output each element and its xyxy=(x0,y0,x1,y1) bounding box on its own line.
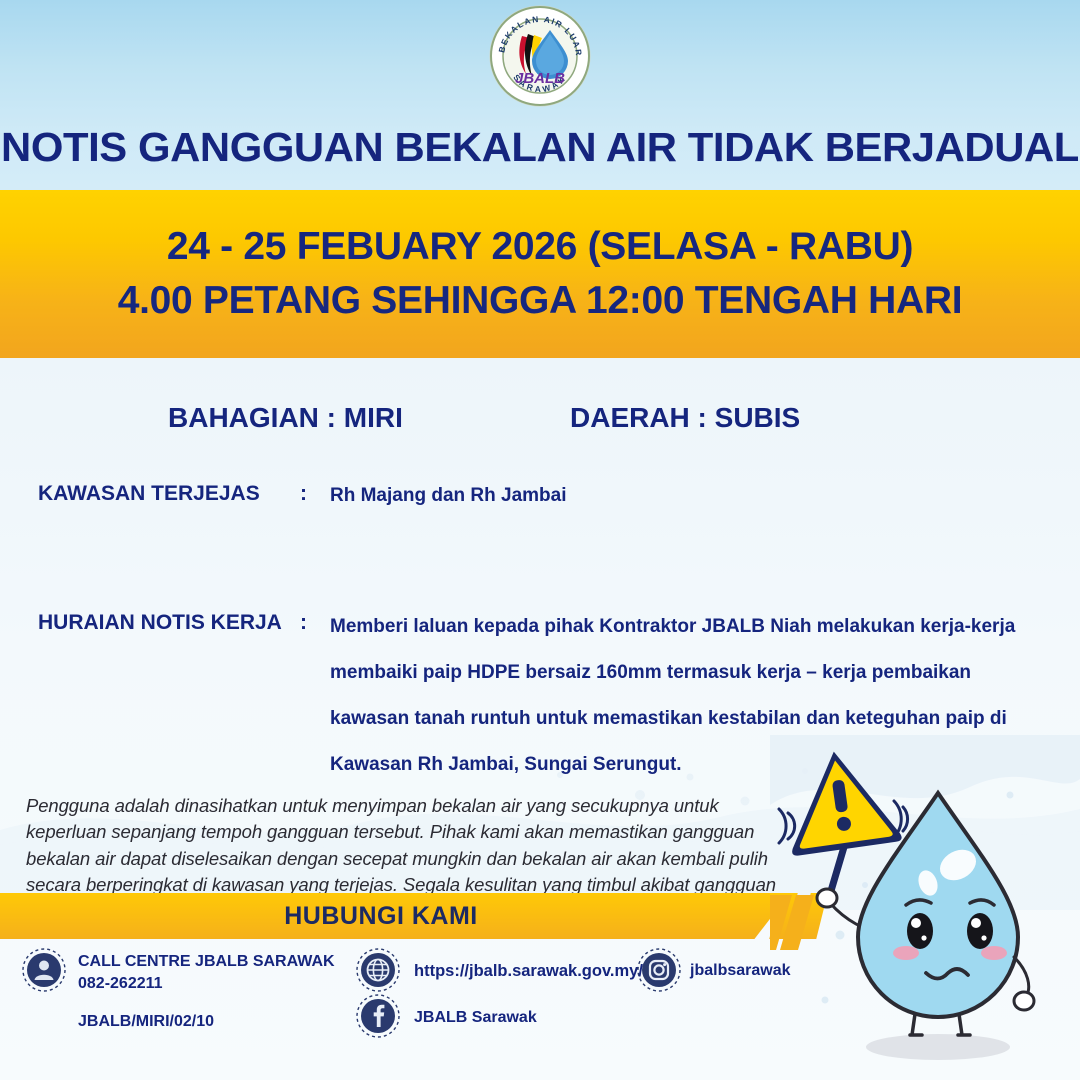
contact-banner: HUBUNGI KAMI xyxy=(0,893,790,939)
globe-icon xyxy=(356,948,400,992)
kawasan-terjejas-value: Rh Majang dan Rh Jambai xyxy=(330,485,566,507)
svg-text:JBALB: JBALB xyxy=(515,70,565,87)
jbalb-logo: JABATAN BEKALAN AIR LUAR BANDAR SARAWAK … xyxy=(488,4,592,108)
daerah-text: DAERAH : SUBIS xyxy=(570,402,800,434)
call-centre-number[interactable]: 082-262211 xyxy=(78,975,163,993)
contact-banner-title: HUBUNGI KAMI xyxy=(284,902,478,931)
huraian-notis-kerja-colon: : xyxy=(300,611,307,635)
website-url[interactable]: https://jbalb.sarawak.gov.my/ xyxy=(414,962,643,981)
water-droplet-mascot xyxy=(770,735,1080,1080)
water-disruption-notice-poster: JABATAN BEKALAN AIR LUAR BANDAR SARAWAK … xyxy=(0,0,1080,1080)
disruption-date: 24 - 25 FEBUARY 2026 (SELASA - RABU) xyxy=(167,220,913,274)
page-title: NOTIS GANGGUAN BEKALAN AIR TIDAK BERJADU… xyxy=(0,124,1080,171)
kawasan-terjejas-label: KAWASAN TERJEJAS xyxy=(38,482,260,506)
disruption-time: 4.00 PETANG SEHINGGA 12:00 TENGAH HARI xyxy=(118,274,963,328)
huraian-notis-kerja-label: HURAIAN NOTIS KERJA xyxy=(38,611,282,635)
poster-header: JABATAN BEKALAN AIR LUAR BANDAR SARAWAK … xyxy=(0,0,1080,190)
person-icon xyxy=(22,948,66,992)
kawasan-terjejas-colon: : xyxy=(300,482,307,506)
bahagian-text: BAHAGIAN : MIRI xyxy=(168,402,403,434)
date-time-banner: 24 - 25 FEBUARY 2026 (SELASA - RABU) 4.0… xyxy=(0,190,1080,358)
call-centre-label: CALL CENTRE JBALB SARAWAK xyxy=(78,953,335,971)
facebook-page[interactable]: JBALB Sarawak xyxy=(414,1009,537,1027)
reference-number: JBALB/MIRI/02/10 xyxy=(78,1013,214,1031)
instagram-icon xyxy=(637,948,681,992)
jbalb-logo-svg: JABATAN BEKALAN AIR LUAR BANDAR SARAWAK … xyxy=(488,4,592,108)
facebook-icon xyxy=(356,994,400,1038)
